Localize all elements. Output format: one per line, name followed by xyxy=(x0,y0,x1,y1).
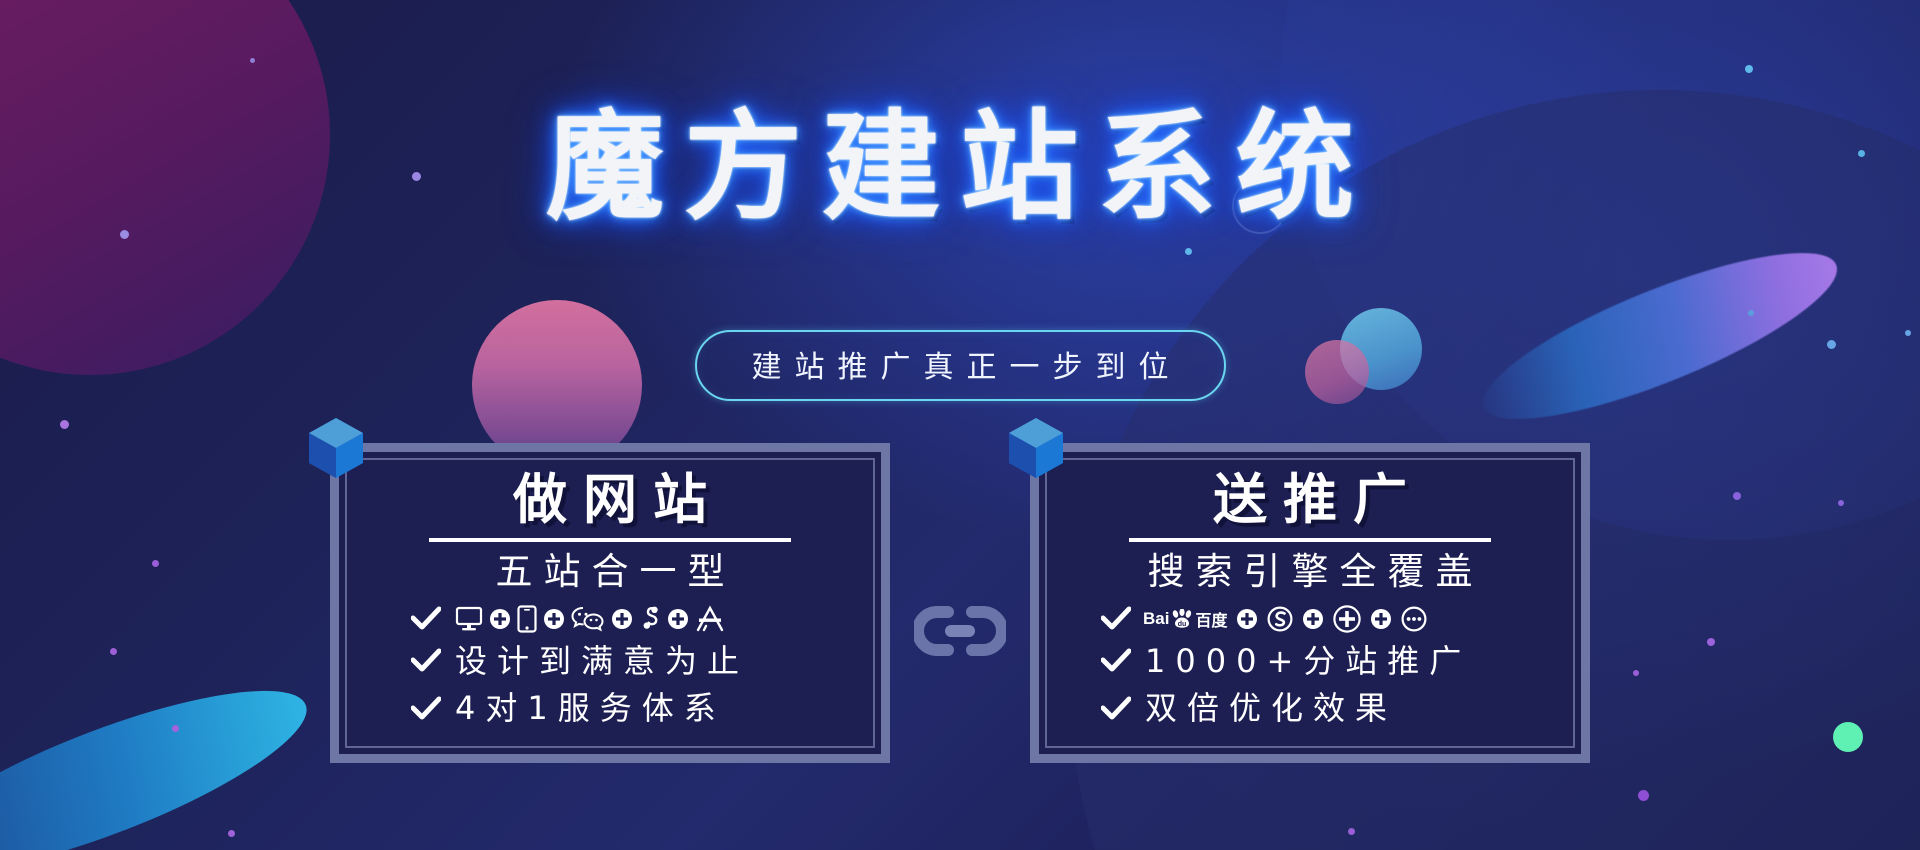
star-dot xyxy=(1748,310,1754,316)
star-dot xyxy=(228,830,235,837)
feature-label: 双倍优化效果 xyxy=(1145,689,1397,727)
feature-label: 4对1服务体系 xyxy=(455,689,726,727)
monitor-icon xyxy=(455,606,483,632)
check-icon xyxy=(1101,606,1131,632)
banner-stage: 魔方建站系统 建站推广真正一步到位 做网站 五站合一型 xyxy=(0,0,1920,850)
feature-label: 设计到满意为止 xyxy=(455,642,749,680)
card-title: 做网站 xyxy=(497,470,723,530)
subtitle-block: 建站推广真正一步到位 xyxy=(0,330,1920,401)
app-store-icon xyxy=(695,605,725,633)
card-build-website[interactable]: 做网站 五站合一型 xyxy=(330,443,890,763)
svg-text:du: du xyxy=(1178,621,1187,628)
baidu-chinese: 百度 xyxy=(1195,607,1227,631)
more-ellipsis-icon xyxy=(1401,606,1427,632)
sogou-icon xyxy=(1267,606,1293,632)
search-engine-icons: Bai du 百度 xyxy=(1143,605,1427,633)
check-icon xyxy=(1101,696,1131,722)
wechat-icon xyxy=(571,606,605,632)
baidu-logo-icon: Bai du 百度 xyxy=(1143,607,1227,631)
baidu-latin: Bai xyxy=(1143,609,1169,629)
card-title: 送推广 xyxy=(1197,470,1423,530)
baidu-paw-icon: du xyxy=(1171,609,1193,629)
card-free-promotion[interactable]: 送推广 搜索引擎全覆盖 Bai xyxy=(1030,443,1590,763)
page-title: 魔方建站系统 xyxy=(528,96,1392,240)
music-note-icon xyxy=(639,605,661,633)
feature-row: 1000+分站推广 xyxy=(1039,642,1581,680)
qihoo360-icon xyxy=(1333,605,1361,633)
title-block: 魔方建站系统 xyxy=(0,96,1920,240)
plus-circle-icon xyxy=(667,608,689,630)
plus-circle-icon xyxy=(1236,608,1258,630)
card-subtitle: 五站合一型 xyxy=(485,551,736,594)
chain-link-icon xyxy=(890,602,1030,660)
star-dot xyxy=(1185,248,1192,255)
title-underline xyxy=(429,538,791,542)
feature-label: 1000+分站推广 xyxy=(1145,642,1471,680)
mobile-phone-icon xyxy=(517,605,537,633)
plus-circle-icon xyxy=(1370,608,1392,630)
plus-circle-icon xyxy=(543,608,565,630)
platform-icons xyxy=(455,605,725,633)
feature-icon-row xyxy=(339,605,881,633)
check-icon xyxy=(1101,648,1131,674)
star-dot xyxy=(250,58,255,63)
feature-icon-row: Bai du 百度 xyxy=(1039,605,1581,633)
title-underline xyxy=(1129,538,1491,542)
feature-row: 双倍优化效果 xyxy=(1039,689,1581,727)
feature-row: 设计到满意为止 xyxy=(339,642,881,680)
check-icon xyxy=(411,696,441,722)
star-dot xyxy=(1348,828,1355,835)
star-dot xyxy=(1745,65,1753,73)
subtitle-pill: 建站推广真正一步到位 xyxy=(695,330,1226,401)
check-icon xyxy=(411,648,441,674)
plus-circle-icon xyxy=(1302,608,1324,630)
cards-row: 做网站 五站合一型 xyxy=(0,443,1920,793)
star-dot xyxy=(60,420,69,429)
cube-icon xyxy=(1005,416,1067,484)
plus-circle-icon xyxy=(611,608,633,630)
cube-icon xyxy=(305,416,367,484)
plus-circle-icon xyxy=(489,608,511,630)
check-icon xyxy=(411,606,441,632)
card-subtitle: 搜索引擎全覆盖 xyxy=(1137,551,1484,594)
feature-row: 4对1服务体系 xyxy=(339,689,881,727)
